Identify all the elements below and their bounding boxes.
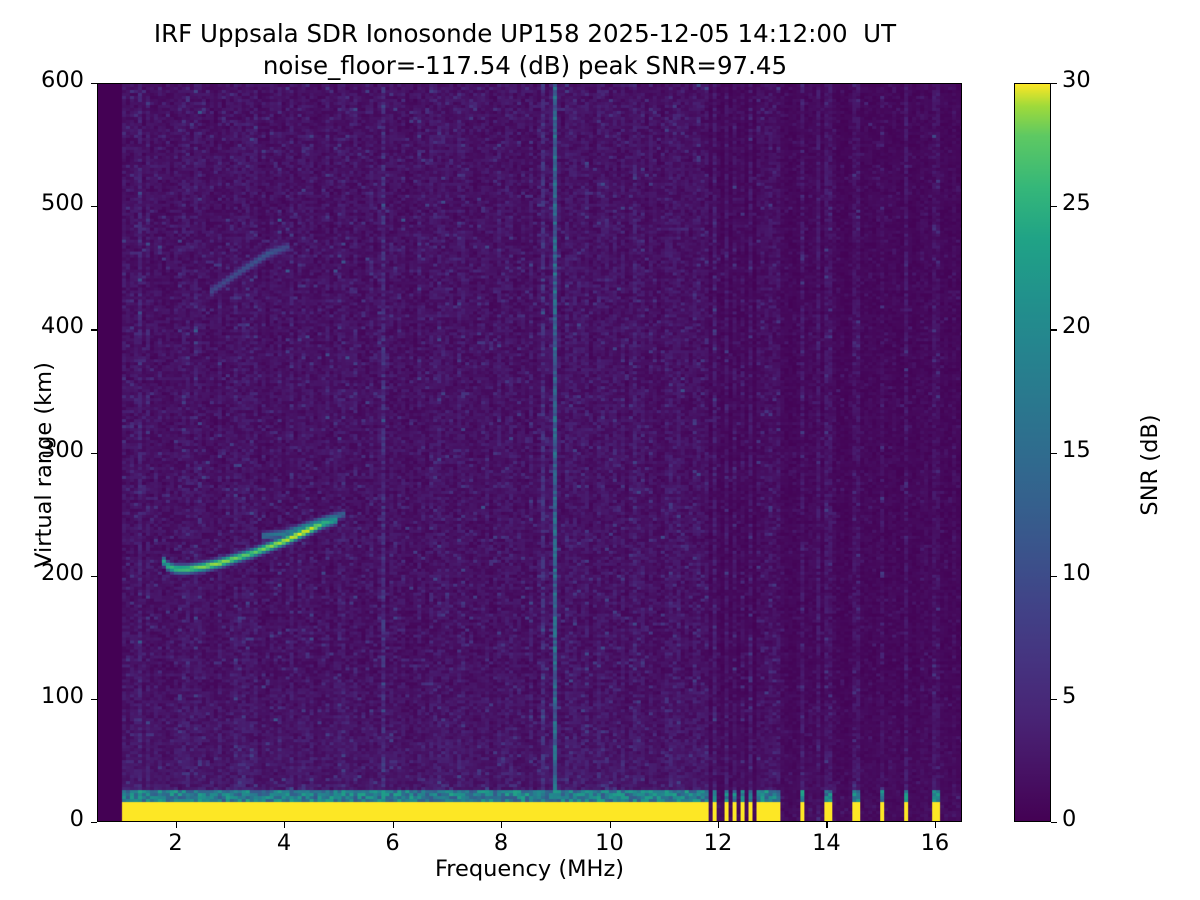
colorbar-tick-label: 10 — [1062, 560, 1132, 586]
colorbar-tick-label: 5 — [1062, 683, 1132, 709]
colorbar-tick-mark — [1051, 576, 1057, 577]
ionogram-figure: IRF Uppsala SDR Ionosonde UP158 2025-12-… — [0, 0, 1200, 900]
colorbar-tick-mark — [1051, 453, 1057, 454]
y-tick-label: 0 — [0, 806, 84, 832]
x-tick-mark — [935, 822, 936, 828]
y-tick-label: 600 — [0, 67, 84, 93]
colorbar-tick-mark — [1051, 822, 1057, 823]
colorbar-title: SNR (dB) — [1137, 315, 1163, 615]
x-tick-label: 16 — [895, 830, 975, 856]
figure-title: IRF Uppsala SDR Ionosonde UP158 2025-12-… — [0, 18, 1050, 82]
y-tick-mark — [91, 453, 97, 454]
x-tick-mark — [718, 822, 719, 828]
colorbar-tick-mark — [1051, 329, 1057, 330]
y-tick-mark — [91, 329, 97, 330]
colorbar-tick-mark — [1051, 699, 1057, 700]
y-tick-mark — [91, 83, 97, 84]
title-line-1: IRF Uppsala SDR Ionosonde UP158 2025-12-… — [0, 18, 1050, 50]
y-tick-mark — [91, 206, 97, 207]
x-tick-label: 8 — [461, 830, 541, 856]
colorbar-tick-label: 15 — [1062, 437, 1132, 463]
y-tick-label: 500 — [0, 190, 84, 216]
y-tick-mark — [91, 576, 97, 577]
colorbar-tick-label: 20 — [1062, 313, 1132, 339]
x-tick-mark — [176, 822, 177, 828]
x-tick-label: 2 — [136, 830, 216, 856]
x-tick-mark — [610, 822, 611, 828]
y-tick-mark — [91, 822, 97, 823]
x-tick-mark — [393, 822, 394, 828]
y-axis-title: Virtual range (km) — [31, 315, 57, 615]
x-tick-label: 4 — [244, 830, 324, 856]
y-tick-mark — [91, 699, 97, 700]
y-tick-label: 100 — [0, 683, 84, 709]
x-tick-label: 6 — [353, 830, 433, 856]
colorbar-tick-label: 25 — [1062, 190, 1132, 216]
x-tick-mark — [284, 822, 285, 828]
x-tick-mark — [826, 822, 827, 828]
colorbar-tick-label: 30 — [1062, 67, 1132, 93]
colorbar-tick-mark — [1051, 83, 1057, 84]
x-tick-label: 10 — [570, 830, 650, 856]
colorbar-tick-label: 0 — [1062, 806, 1132, 832]
x-axis-title: Frequency (MHz) — [97, 856, 962, 882]
x-tick-label: 12 — [678, 830, 758, 856]
colorbar-tick-mark — [1051, 206, 1057, 207]
ionogram-plot-area — [97, 83, 962, 822]
title-line-2: noise_floor=-117.54 (dB) peak SNR=97.45 — [0, 50, 1050, 82]
colorbar — [1014, 83, 1051, 822]
x-tick-label: 14 — [786, 830, 866, 856]
ionogram-heatmap — [98, 84, 961, 821]
x-tick-mark — [501, 822, 502, 828]
